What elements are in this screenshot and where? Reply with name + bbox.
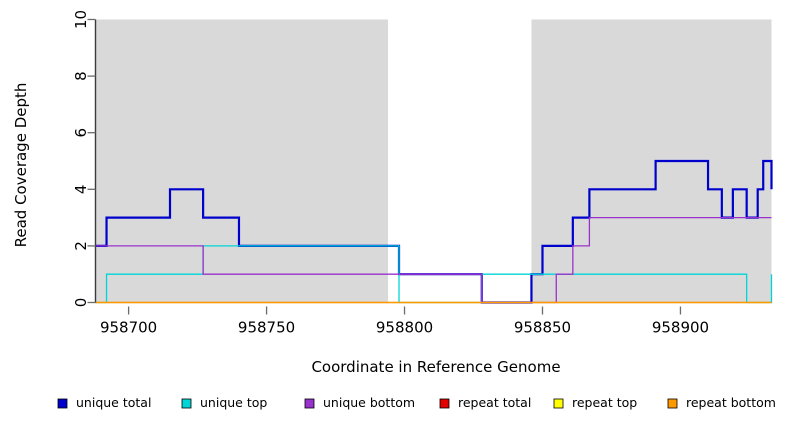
legend-swatch-unique-top xyxy=(182,399,191,408)
x-tick-label: 958700 xyxy=(100,319,157,337)
y-tick-label: 8 xyxy=(72,71,90,81)
y-tick-label: 2 xyxy=(72,241,90,251)
x-tick-label: 958800 xyxy=(376,319,433,337)
legend-swatch-unique-total xyxy=(58,399,67,408)
legend-label-unique-bottom: unique bottom xyxy=(323,395,415,410)
legend-swatch-repeat-top xyxy=(554,399,563,408)
legend-label-repeat-bottom: repeat bottom xyxy=(686,395,776,410)
legend: unique totalunique topunique bottomrepea… xyxy=(58,395,776,410)
plot-svg: 0246810958700958750958800958850958900 Re… xyxy=(0,0,792,432)
y-tick-label: 0 xyxy=(72,298,90,308)
y-axis-label: Read Coverage Depth xyxy=(12,83,30,248)
x-tick-label: 958750 xyxy=(238,319,295,337)
repeat-shading-right xyxy=(531,20,771,303)
y-tick-label: 10 xyxy=(72,10,90,29)
legend-swatch-repeat-bottom xyxy=(668,399,677,408)
y-tick-label: 6 xyxy=(72,128,90,138)
legend-label-repeat-total: repeat total xyxy=(458,395,531,410)
x-axis-label: Coordinate in Reference Genome xyxy=(311,358,560,376)
legend-swatch-unique-bottom xyxy=(305,399,314,408)
y-tick-label: 4 xyxy=(72,185,90,195)
x-tick-label: 958900 xyxy=(652,319,709,337)
legend-label-unique-top: unique top xyxy=(200,395,267,410)
legend-label-unique-total: unique total xyxy=(76,395,151,410)
x-tick-label: 958850 xyxy=(514,319,571,337)
legend-label-repeat-top: repeat top xyxy=(572,395,637,410)
legend-swatch-repeat-total xyxy=(440,399,449,408)
coverage-depth-chart: 0246810958700958750958800958850958900 Re… xyxy=(0,0,792,432)
repeat-shading-left xyxy=(96,20,388,303)
